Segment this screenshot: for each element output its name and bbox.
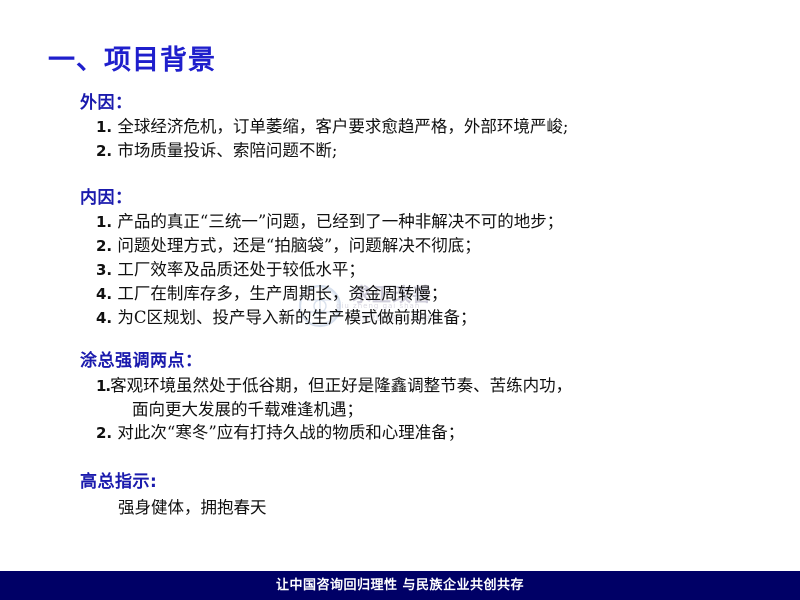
section-gao-directive: 高总指示: 强身健体，拥抱春天: [0, 467, 800, 519]
list-item: 1.客观环境虽然处于低谷期，但正好是隆鑫调整节奏、苦练内功， 面向更大发展的千载…: [20, 374, 800, 421]
section-tu-emphasis: 涂总强调两点： 1.客观环境虽然处于低谷期，但正好是隆鑫调整节奏、苦练内功， 面…: [0, 346, 800, 445]
list-item-text: 客观环境虽然处于低谷期，但正好是隆鑫调整节奏、苦练内功，: [110, 376, 572, 395]
list-item-number: 3.: [96, 261, 112, 279]
section-heading: 外因：: [0, 88, 800, 113]
list-item-number: 2.: [96, 424, 112, 442]
section-internal-causes: 内因： 1. 产品的真正“三统一”问题，已经到了一种非解决不可的地步； 2. 问…: [0, 183, 800, 330]
list-item-text: 全球经济危机，订单萎缩，客户要求愈趋严格，外部环境严峻;: [117, 117, 568, 136]
list-item-number: 1.: [96, 377, 110, 395]
list-item-text: 问题处理方式，还是“拍脑袋”，问题解决不彻底；: [117, 236, 480, 255]
list-item-continuation: 面向更大发展的千载难逢机遇；: [116, 398, 800, 421]
slide-canvas: 求正改善 qiu zheng gai shan 精益运营整体解决方案提供者 一、…: [0, 0, 800, 600]
list-item-number: 1.: [96, 213, 112, 231]
slide-title: 一、项目背景: [48, 38, 216, 77]
footer-text: 让中国咨询回归理性 与民族企业共创共存: [0, 571, 800, 600]
list-item: 2. 问题处理方式，还是“拍脑袋”，问题解决不彻底；: [20, 234, 800, 258]
list-item-text: 为C区规划、投产导入新的生产模式做前期准备；: [117, 308, 476, 327]
section-item-list: 1.客观环境虽然处于低谷期，但正好是隆鑫调整节奏、苦练内功， 面向更大发展的千载…: [0, 374, 800, 445]
list-item-text: 对此次“寒冬”应有打持久战的物质和心理准备；: [117, 423, 464, 442]
list-item: 3. 工厂效率及品质还处于较低水平；: [20, 258, 800, 282]
list-item-text: 市场质量投诉、索陪问题不断;: [117, 141, 337, 160]
list-item-text: 工厂在制库存多，生产周期长，资金周转慢；: [117, 284, 447, 303]
list-item: 2. 市场质量投诉、索陪问题不断;: [20, 139, 800, 163]
slide-body: 外因： 1. 全球经济危机，订单萎缩，客户要求愈趋严格，外部环境严峻; 2. 市…: [0, 88, 800, 519]
list-item-number: 4.: [96, 285, 112, 303]
list-item: 1. 全球经济危机，订单萎缩，客户要求愈趋严格，外部环境严峻;: [20, 115, 800, 139]
section-item-list: 1. 产品的真正“三统一”问题，已经到了一种非解决不可的地步； 2. 问题处理方…: [0, 210, 800, 330]
section-heading: 内因：: [0, 183, 800, 208]
list-item-number: 2.: [96, 237, 112, 255]
list-item-number: 1.: [96, 118, 112, 136]
section-heading: 涂总强调两点：: [0, 346, 800, 371]
section-item-list: 1. 全球经济危机，订单萎缩，客户要求愈趋严格，外部环境严峻; 2. 市场质量投…: [0, 115, 800, 163]
list-item: 4. 为C区规划、投产导入新的生产模式做前期准备；: [20, 306, 800, 330]
list-item-number: 2.: [96, 142, 112, 160]
list-item: 4. 工厂在制库存多，生产周期长，资金周转慢；: [20, 282, 800, 306]
list-item: 1. 产品的真正“三统一”问题，已经到了一种非解决不可的地步；: [20, 210, 800, 234]
section-heading: 高总指示:: [0, 467, 800, 492]
section-plain-text: 强身健体，拥抱春天: [0, 496, 800, 519]
section-external-causes: 外因： 1. 全球经济危机，订单萎缩，客户要求愈趋严格，外部环境严峻; 2. 市…: [0, 88, 800, 163]
list-item: 2. 对此次“寒冬”应有打持久战的物质和心理准备；: [20, 421, 800, 445]
list-item-text: 工厂效率及品质还处于较低水平；: [117, 260, 365, 279]
footer-bar: 让中国咨询回归理性 与民族企业共创共存: [0, 571, 800, 600]
list-item-number: 4.: [96, 309, 112, 327]
list-item-text: 产品的真正“三统一”问题，已经到了一种非解决不可的地步；: [117, 212, 563, 231]
